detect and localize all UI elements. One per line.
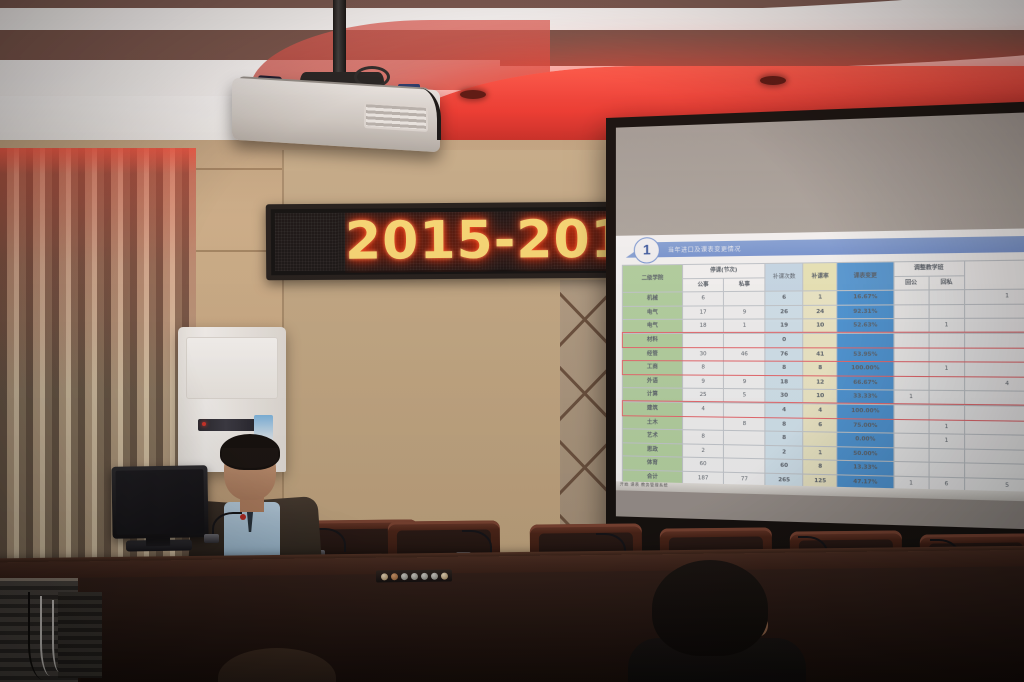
cell-adjust: [964, 391, 1024, 406]
cell-makeup-rate: 100.00%: [837, 362, 893, 377]
presentation-slide: 1 当年进口及课表变更情况 二级学院 停课(节次) 补课次数: [616, 228, 1024, 511]
cell-makeup-count: [803, 333, 837, 347]
curtain-top-glow: [0, 148, 196, 174]
cell-subtotal: 2: [765, 445, 803, 460]
cell-sishi: [724, 458, 766, 473]
seated-speaker: [196, 440, 316, 570]
cell-gongshi: 17: [683, 306, 724, 320]
projection-screen: 1 当年进口及课表变更情况 二级学院 停课(节次) 补课次数: [606, 100, 1024, 576]
ceiling-recessed-spot-1: [460, 90, 486, 99]
cell-huigong: [894, 419, 929, 434]
cell-makeup-rate: 33.33%: [837, 390, 893, 405]
th-gongshi: 公事: [683, 278, 724, 292]
cell-subtotal: 26: [765, 305, 803, 319]
cell-huisi: [929, 463, 965, 478]
cell-makeup-rate: 75.00%: [837, 418, 893, 433]
led-banner-sign: 2015-2016学: [266, 202, 625, 280]
cell-huigong: [894, 405, 929, 420]
foreground-attendee-head: [652, 560, 768, 656]
th-adjust-class: [964, 260, 1024, 290]
cell-sishi: 46: [724, 347, 766, 361]
cell-dept: 土木: [622, 415, 682, 430]
desk-monitor: [111, 465, 208, 539]
control-button[interactable]: [410, 572, 417, 579]
cell-huisi: [929, 290, 965, 305]
cell-makeup-rate: 92.31%: [837, 305, 893, 319]
slide-number-badge: 1: [634, 237, 660, 264]
cell-huisi: 1: [929, 362, 965, 377]
cell-dept: 体育: [622, 456, 682, 471]
cell-huigong: [894, 362, 929, 377]
cell-makeup-rate: 16.67%: [837, 290, 893, 305]
cell-huigong: [894, 290, 929, 305]
cell-subtotal: 0: [765, 333, 803, 347]
cell-sishi: [724, 361, 766, 375]
control-button[interactable]: [420, 572, 427, 579]
cell-gongshi: 6: [683, 292, 724, 306]
cell-sishi: 1: [724, 319, 766, 333]
th-suspend-group: 停课(节次): [683, 263, 766, 278]
cell-makeup-count: 24: [803, 305, 837, 319]
cell-huigong: [894, 462, 929, 477]
cell-adjust: [964, 348, 1024, 363]
control-button[interactable]: [400, 573, 407, 580]
table-row: 电气181191052.63%1: [622, 318, 1024, 333]
conference-room-photo: 2015-2016学 1 当年进口及课表变更情况: [0, 0, 1024, 682]
cell-makeup-count: 10: [803, 390, 837, 404]
cell-makeup-rate: 100.00%: [837, 404, 893, 419]
cell-sishi: 8: [724, 417, 766, 432]
cell-dept: 材料: [622, 333, 682, 347]
ceiling-recessed-spot-2: [760, 76, 786, 85]
cell-huisi: [929, 304, 965, 319]
cell-gongshi: 30: [683, 347, 724, 361]
cell-huisi: 1: [929, 434, 965, 449]
cell-makeup-rate: 66.67%: [837, 376, 893, 391]
control-button[interactable]: [380, 573, 387, 580]
microphone-base: [204, 534, 219, 543]
cell-sishi: 9: [724, 375, 766, 389]
cell-dept: 工商: [622, 361, 682, 375]
projector-mount-pole: [333, 0, 346, 80]
cell-dept: 电气: [622, 306, 682, 320]
control-button[interactable]: [390, 573, 397, 580]
cell-makeup-count: 12: [803, 376, 837, 390]
cell-gongshi: 8: [683, 430, 724, 445]
cell-gongshi: 4: [683, 402, 724, 416]
cell-adjust: [964, 333, 1024, 348]
cell-sishi: [724, 333, 766, 347]
cell-makeup-count: 1: [803, 291, 837, 305]
cell-gongshi: 18: [683, 319, 724, 333]
cell-dept: 机械: [622, 292, 682, 306]
cell-dept: 艺术: [622, 429, 682, 444]
cell-gongshi: 60: [683, 457, 724, 472]
cell-huigong: [894, 447, 929, 462]
cell-huigong: [894, 348, 929, 362]
cell-dept: 电气: [622, 320, 682, 334]
th-schedule-change-group: 调整教学班: [894, 261, 965, 276]
cell-dept: 经管: [622, 347, 682, 361]
cell-huigong: [894, 319, 929, 333]
ac-front-panel: [186, 337, 278, 399]
cell-makeup-rate: 50.00%: [837, 446, 893, 461]
cell-makeup-count: 6: [803, 418, 837, 433]
monitor-screen[interactable]: [115, 469, 204, 535]
cell-subtotal: 19: [765, 319, 803, 333]
control-button[interactable]: [430, 572, 437, 579]
cell-gongshi: 9: [683, 375, 724, 389]
foreground-attendee-2: [218, 648, 338, 682]
desk-control-panel[interactable]: [376, 570, 452, 583]
cell-subtotal: 8: [765, 417, 803, 432]
cell-dept: 外语: [622, 374, 682, 388]
cell-sishi: [724, 431, 766, 446]
cell-huigong: [894, 376, 929, 391]
foreground-attendee: [640, 560, 790, 682]
cell-gongshi: 25: [683, 389, 724, 403]
screen-unlit-area: [616, 111, 1024, 238]
table-head: 二级学院 停课(节次) 补课次数 补课率 课表变更 调整教学班 公事 私事 回公: [622, 260, 1024, 293]
cell-subtotal: 60: [765, 459, 803, 474]
th-huigong: 回公: [894, 276, 929, 291]
cell-makeup-rate: 53.95%: [837, 347, 893, 361]
th-makeup-rate: 课表变更: [837, 262, 893, 291]
foreground-attendee-2-head: [218, 648, 336, 682]
cell-makeup-count: 8: [803, 361, 837, 375]
cell-gongshi: 8: [683, 361, 724, 375]
cell-subtotal: 4: [765, 403, 803, 417]
cell-makeup-count: 41: [803, 347, 837, 361]
cell-huisi: [929, 376, 965, 391]
cell-makeup-count: 4: [803, 404, 837, 419]
cell-adjust: [964, 434, 1024, 450]
cell-adjust: [964, 362, 1024, 377]
cell-huisi: [929, 448, 965, 463]
cell-huisi: 1: [929, 419, 965, 434]
th-makeup-count: 补课率: [803, 263, 837, 292]
cell-adjust: [964, 304, 1024, 319]
led-banner-text: 2015-2016学: [345, 211, 624, 273]
cell-sishi: [724, 444, 766, 459]
cell-adjust: [964, 318, 1024, 333]
cell-subtotal: 6: [765, 291, 803, 305]
cell-gongshi: 2: [683, 444, 724, 459]
cell-sishi: 9: [724, 305, 766, 319]
cell-huisi: [929, 333, 965, 347]
cell-subtotal: 8: [765, 431, 803, 446]
th-sishi: 私事: [724, 277, 766, 291]
table-row: 材料0: [622, 333, 1024, 348]
control-button[interactable]: [440, 572, 447, 579]
cell-makeup-count: 1: [803, 446, 837, 461]
cell-huigong: [894, 333, 929, 347]
cell-makeup-rate: [837, 333, 893, 347]
cell-subtotal: 30: [765, 389, 803, 403]
cell-huisi: [929, 405, 965, 420]
cell-makeup-count: [803, 432, 837, 447]
cell-subtotal: 76: [765, 347, 803, 361]
cell-gongshi: [683, 333, 724, 347]
table-body: 机械66116.67%1电气179262492.31%电气181191052.6…: [622, 289, 1024, 494]
slide-data-table: 二级学院 停课(节次) 补课次数 补课率 课表变更 调整教学班 公事 私事 回公: [622, 259, 1024, 495]
cell-makeup-count: 10: [803, 319, 837, 333]
projection-screen-surface: 1 当年进口及课表变更情况 二级学院 停课(节次) 补课次数: [616, 111, 1024, 530]
cell-makeup-rate: 0.00%: [837, 432, 893, 447]
cell-dept: 建筑: [622, 402, 682, 416]
cell-adjust: [964, 405, 1024, 421]
cell-huigong: [894, 304, 929, 318]
slide-title: 当年进口及课表变更情况: [668, 244, 741, 254]
cell-huigong: 1: [894, 390, 929, 405]
cell-sishi: [724, 291, 766, 305]
cell-subtotal: 8: [765, 361, 803, 375]
cell-adjust: [964, 420, 1024, 436]
cell-huigong: [894, 433, 929, 448]
cell-sishi: [724, 403, 766, 417]
cell-dept: 思政: [622, 443, 682, 458]
speaker-hair-side: [222, 448, 278, 468]
th-subtotal: 补课次数: [765, 263, 803, 291]
cell-dept: 计算: [622, 388, 682, 402]
th-huisi: 回私: [929, 275, 965, 290]
th-dept: 二级学院: [622, 265, 682, 293]
cell-gongshi: [683, 416, 724, 430]
cell-subtotal: 18: [765, 375, 803, 389]
table-row: 电气179262492.31%: [622, 304, 1024, 320]
slide-header: 1 当年进口及课表变更情况: [622, 232, 1024, 261]
cell-huisi: [929, 391, 965, 406]
cable-black: [28, 592, 68, 680]
cell-huisi: 1: [929, 319, 965, 333]
cell-adjust: 4: [964, 377, 1024, 392]
cell-adjust: 1: [964, 289, 1024, 304]
cell-sishi: 5: [724, 389, 766, 403]
cell-makeup-rate: 52.63%: [837, 319, 893, 333]
cell-makeup-rate: 13.33%: [837, 461, 893, 476]
cell-makeup-count: 8: [803, 460, 837, 475]
ac-power-indicator-icon: [202, 422, 206, 426]
cell-huisi: [929, 348, 965, 363]
